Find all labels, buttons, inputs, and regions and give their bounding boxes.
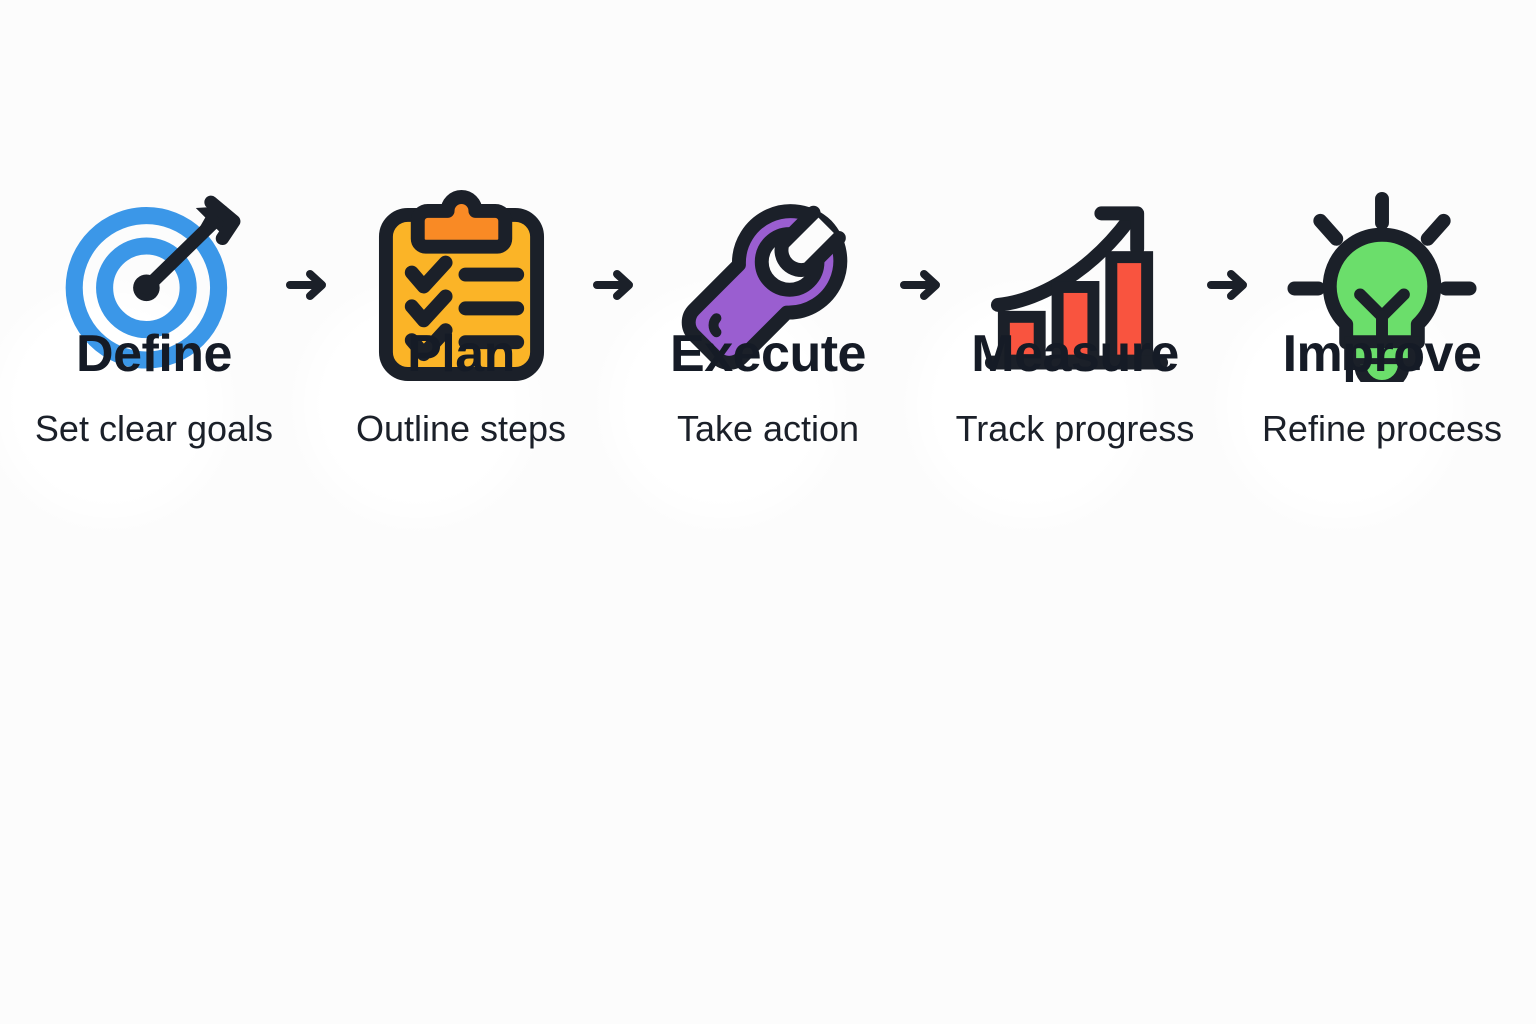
process-step-define[interactable]: Define Set clear goals bbox=[28, 0, 280, 456]
step-title: Define bbox=[76, 328, 232, 380]
wrench-icon bbox=[642, 0, 894, 300]
clipboard-checklist-icon bbox=[335, 0, 587, 300]
step-description: Track progress bbox=[956, 402, 1195, 456]
process-step-improve[interactable]: Improve Refine process bbox=[1256, 0, 1508, 456]
step-description: Outline steps bbox=[356, 402, 566, 456]
step-title: Plan bbox=[407, 328, 515, 380]
step-description: Set clear goals bbox=[35, 402, 273, 456]
step-title: Measure bbox=[971, 328, 1179, 380]
lightbulb-icon bbox=[1256, 0, 1508, 300]
arrow-right-icon bbox=[894, 0, 949, 300]
step-title: Execute bbox=[670, 328, 866, 380]
target-icon bbox=[28, 0, 280, 300]
step-description: Refine process bbox=[1262, 402, 1502, 456]
step-description: Take action bbox=[677, 402, 859, 456]
process-flow: Define Set clear goals Plan Outline step… bbox=[0, 0, 1536, 820]
arrow-right-icon bbox=[1201, 0, 1256, 300]
arrow-right-icon bbox=[280, 0, 335, 300]
process-step-execute[interactable]: Execute Take action bbox=[642, 0, 894, 456]
process-step-plan[interactable]: Plan Outline steps bbox=[335, 0, 587, 456]
arrow-right-icon bbox=[587, 0, 642, 300]
step-title: Improve bbox=[1283, 328, 1482, 380]
process-step-measure[interactable]: Measure Track progress bbox=[949, 0, 1201, 456]
bar-chart-growth-icon bbox=[949, 0, 1201, 300]
